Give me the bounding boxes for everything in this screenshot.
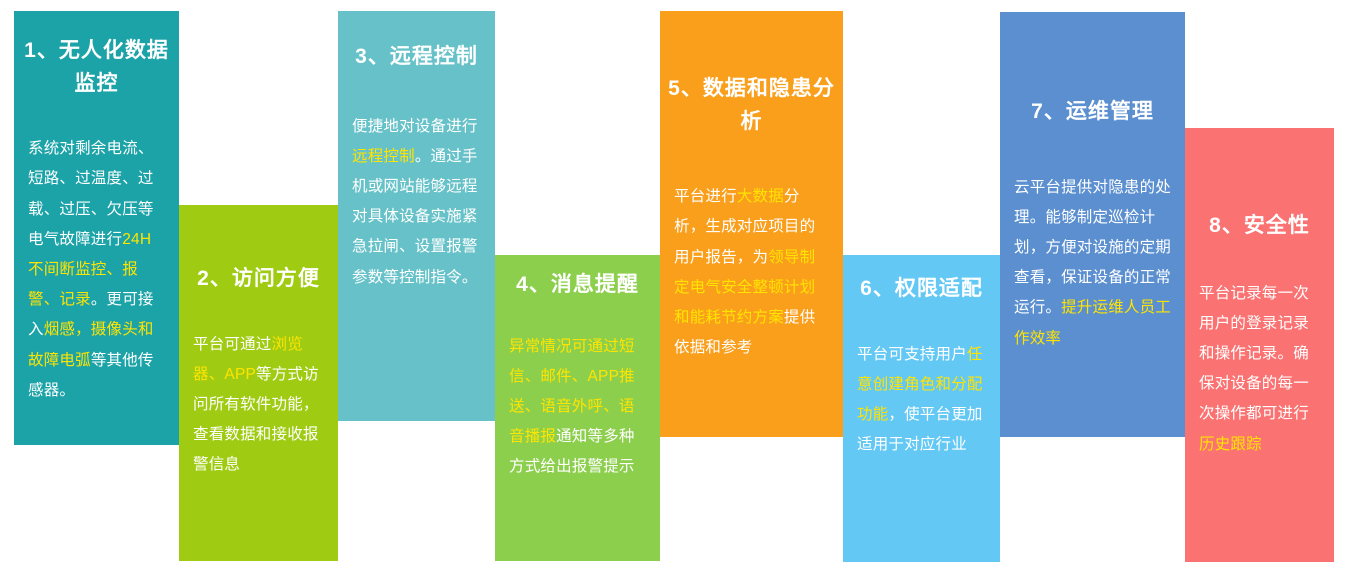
card-8-body: 平台记录每一次用户的登录记录和操作记录。确保对设备的每一次操作都可进行历史跟踪 xyxy=(1185,243,1334,460)
body-text-run: 平台进行 xyxy=(674,188,737,205)
body-text-run: 云平台提供对隐患的处理。能够制定巡检计划，方便对设施的定期查看，保证设备的正常运… xyxy=(1014,179,1171,317)
feature-card-3[interactable]: 3、远程控制 便捷地对设备进行远程控制。通过手机或网站能够远程对具体设备实施紧急… xyxy=(338,11,495,421)
feature-card-4[interactable]: 4、消息提醒 异常情况可通过短信、邮件、APP推送、语音外呼、语音播报通知等多种… xyxy=(495,255,660,561)
card-4-title: 4、消息提醒 xyxy=(495,255,660,302)
body-text-run: 平台可支持用户 xyxy=(857,346,967,363)
card-5-body: 平台进行大数据分析，生成对应项目的用户报告，为领导制定电气安全整顿计划和能耗节约… xyxy=(660,138,843,363)
card-8-title: 8、安全性 xyxy=(1185,128,1334,243)
body-text-run: 平台记录每一次用户的登录记录和操作记录。确保对设备的每一次操作都可进行 xyxy=(1199,285,1309,423)
card-7-title: 7、运维管理 xyxy=(1000,12,1185,129)
card-5-title: 5、数据和隐患分析 xyxy=(660,11,843,138)
highlighted-text-run: 远程控制 xyxy=(352,148,415,165)
feature-card-5[interactable]: 5、数据和隐患分析 平台进行大数据分析，生成对应项目的用户报告，为领导制定电气安… xyxy=(660,11,843,437)
card-7-body: 云平台提供对隐患的处理。能够制定巡检计划，方便对设施的定期查看，保证设备的正常运… xyxy=(1000,129,1185,354)
feature-card-8[interactable]: 8、安全性 平台记录每一次用户的登录记录和操作记录。确保对设备的每一次操作都可进… xyxy=(1185,128,1334,562)
card-2-body: 平台可通过浏览器、APP等方式访问所有软件功能，查看数据和接收报警信息 xyxy=(179,296,338,481)
feature-card-2[interactable]: 2、访问方便 平台可通过浏览器、APP等方式访问所有软件功能，查看数据和接收报警… xyxy=(179,205,338,561)
card-2-title: 2、访问方便 xyxy=(179,205,338,296)
highlighted-text-run: 历史跟踪 xyxy=(1199,436,1262,453)
body-text-run: 。通过手机或网站能够远程对具体设备实施紧急拉闸、设置报警参数等控制指令。 xyxy=(352,148,478,286)
feature-card-7[interactable]: 7、运维管理 云平台提供对隐患的处理。能够制定巡检计划，方便对设施的定期查看，保… xyxy=(1000,12,1185,437)
feature-card-6[interactable]: 6、权限适配 平台可支持用户任意创建角色和分配功能，使平台更加适用于对应行业 xyxy=(843,255,1000,562)
card-6-title: 6、权限适配 xyxy=(843,255,1000,306)
body-text-run: 便捷地对设备进行 xyxy=(352,118,478,135)
card-3-title: 3、远程控制 xyxy=(338,11,495,74)
body-text-run: 平台可通过 xyxy=(193,336,272,353)
feature-cards-board: 1、无人化数据监控 系统对剩余电流、短路、过温度、过载、过压、欠压等电气故障进行… xyxy=(0,0,1348,572)
feature-card-1[interactable]: 1、无人化数据监控 系统对剩余电流、短路、过温度、过载、过压、欠压等电气故障进行… xyxy=(14,11,179,445)
card-3-body: 便捷地对设备进行远程控制。通过手机或网站能够远程对具体设备实施紧急拉闸、设置报警… xyxy=(338,74,495,293)
card-1-title: 1、无人化数据监控 xyxy=(14,11,179,100)
card-4-body: 异常情况可通过短信、邮件、APP推送、语音外呼、语音播报通知等多种方式给出报警提… xyxy=(495,302,660,483)
card-1-body: 系统对剩余电流、短路、过温度、过载、过压、欠压等电气故障进行24H不间断监控、报… xyxy=(14,100,179,406)
card-6-body: 平台可支持用户任意创建角色和分配功能，使平台更加适用于对应行业 xyxy=(843,306,1000,461)
highlighted-text-run: 大数据 xyxy=(737,188,784,205)
